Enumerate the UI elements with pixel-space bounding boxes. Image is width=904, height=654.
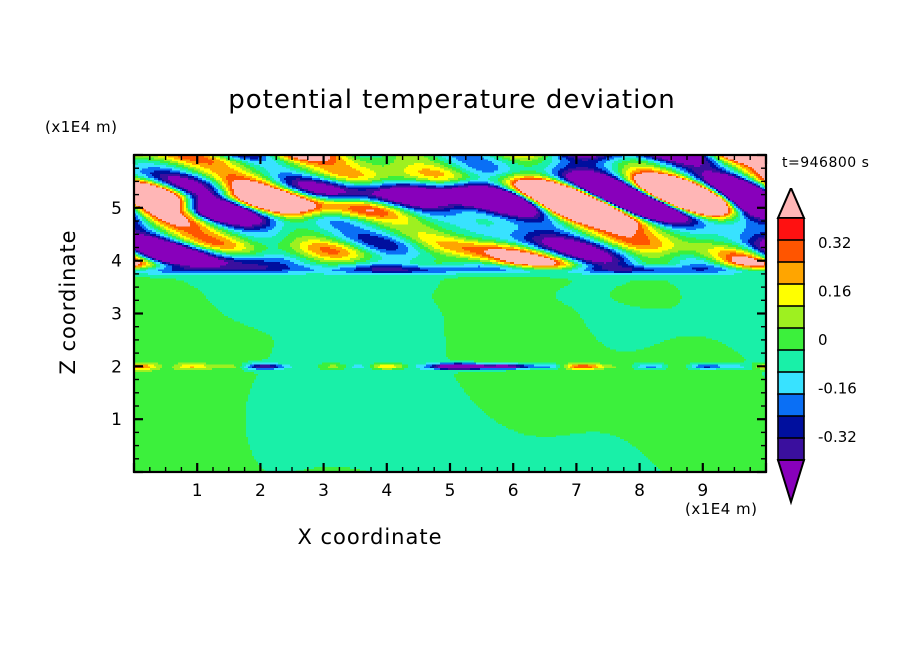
svg-text:6: 6 <box>508 481 519 501</box>
svg-text:3: 3 <box>111 305 122 325</box>
svg-text:-0.16: -0.16 <box>818 379 857 397</box>
svg-text:5: 5 <box>445 481 456 501</box>
svg-text:2: 2 <box>255 481 266 501</box>
svg-text:4: 4 <box>111 252 122 272</box>
svg-text:3: 3 <box>318 481 329 501</box>
svg-text:-0.32: -0.32 <box>818 428 857 446</box>
colorbar: 0.320.160-0.16-0.32 <box>770 188 900 528</box>
figure-canvas: potential temperature deviation (x1E4 m)… <box>0 0 904 654</box>
svg-text:9: 9 <box>697 481 708 501</box>
svg-text:5: 5 <box>111 199 122 219</box>
svg-text:0.16: 0.16 <box>818 283 851 301</box>
svg-text:1: 1 <box>111 410 122 430</box>
svg-text:1: 1 <box>192 481 203 501</box>
svg-text:2: 2 <box>111 357 122 377</box>
svg-text:8: 8 <box>634 481 645 501</box>
axes-frame: 12345678912345 <box>0 0 904 654</box>
svg-text:0: 0 <box>818 331 828 349</box>
svg-text:4: 4 <box>381 481 392 501</box>
svg-text:7: 7 <box>571 481 582 501</box>
svg-text:0.32: 0.32 <box>818 234 851 252</box>
